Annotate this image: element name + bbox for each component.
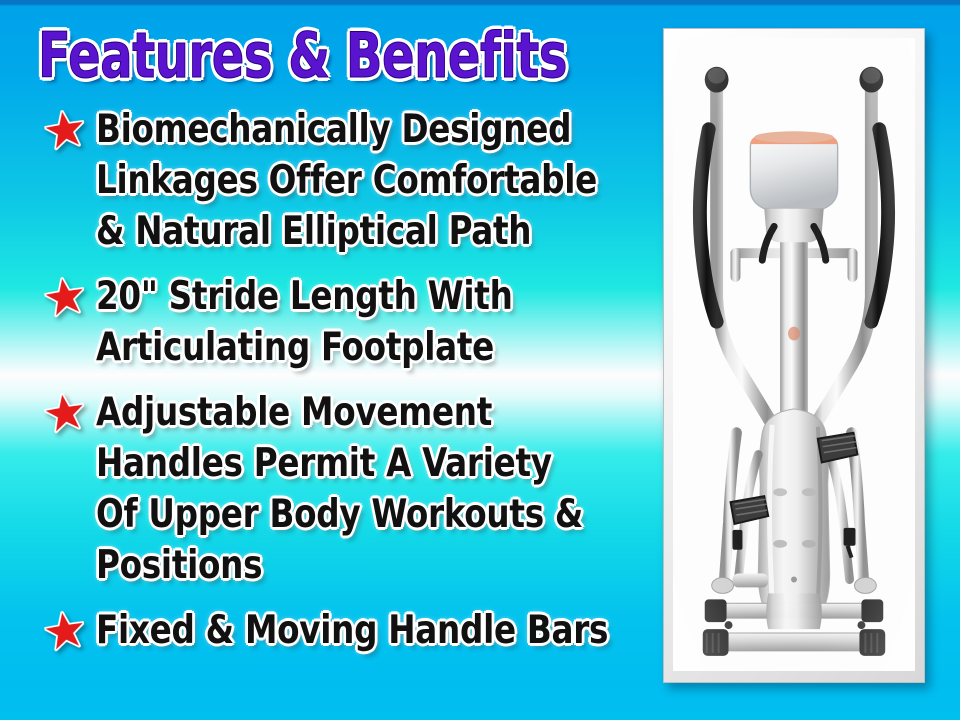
list-item-line: Adjustable Movement: [96, 387, 610, 438]
product-photo: [673, 38, 915, 671]
list-item-line: Handles Permit A Variety: [96, 438, 610, 489]
list-item-label: Adjustable Movement Handles Permit A Var…: [96, 387, 610, 591]
product-photo-frame: [663, 28, 925, 683]
list-item-line: Biomechanically Designed: [96, 104, 610, 155]
list-item: Adjustable Movement Handles Permit A Var…: [34, 387, 649, 591]
list-item: Biomechanically Designed Linkages Offer …: [34, 104, 649, 257]
page-title-text: Features & Benefits: [38, 22, 554, 90]
list-item-line: 20" Stride Length With: [96, 271, 610, 322]
list-item-line: Articulating Footplate: [96, 322, 610, 373]
list-item: Fixed & Moving Handle Bars: [34, 605, 649, 656]
list-item-label: 20" Stride Length With Articulating Foot…: [96, 271, 610, 373]
list-item: 20" Stride Length With Articulating Foot…: [34, 271, 649, 373]
list-item-line: Linkages Offer Comfortable: [96, 155, 610, 206]
star-icon: [34, 271, 96, 317]
list-item-label: Biomechanically Designed Linkages Offer …: [96, 104, 610, 257]
list-item-line: Fixed & Moving Handle Bars: [96, 605, 610, 656]
slide-canvas: Features & Benefits Biomechanically Desi…: [0, 0, 960, 720]
page-title: Features & Benefits: [38, 22, 638, 94]
star-icon: [34, 387, 96, 433]
list-item-label: Fixed & Moving Handle Bars: [96, 605, 610, 656]
star-icon: [34, 104, 96, 150]
list-item-line: Of Upper Body Workouts &: [96, 489, 610, 540]
list-item-line: Positions: [96, 540, 610, 591]
list-item-line: & Natural Elliptical Path: [96, 206, 610, 257]
features-list: Biomechanically Designed Linkages Offer …: [34, 104, 649, 670]
star-icon: [34, 605, 96, 651]
